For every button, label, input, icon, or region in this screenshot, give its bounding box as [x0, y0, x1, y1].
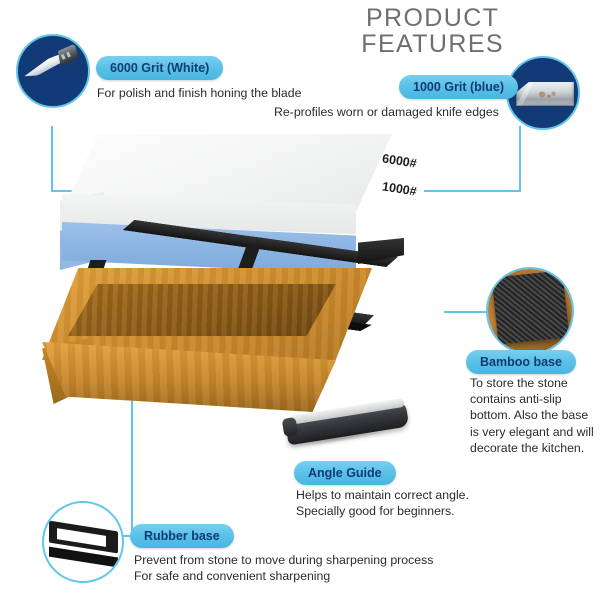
stone-grit-6000-label: 6000#	[381, 151, 418, 170]
knife-blade	[22, 54, 64, 81]
leader-line-1000-vertical	[519, 126, 521, 192]
callout-desc-1000-grit: Re-profiles worn or damaged knife edges	[274, 104, 499, 120]
leader-line-1000-horizontal	[424, 190, 520, 192]
rubber-frame-icon	[49, 526, 118, 563]
callout-desc-bamboo-base: To store the stone contains anti-slip bo…	[470, 375, 598, 456]
page-title-line2: FEATURES	[361, 32, 504, 58]
callout-label-1000-grit[interactable]: 1000 Grit (blue)	[399, 75, 518, 99]
callout-icon-1000-grit[interactable]	[506, 56, 580, 130]
bamboo-recess-well	[68, 284, 336, 336]
callout-label-6000-grit[interactable]: 6000 Grit (White)	[96, 56, 223, 80]
stone-grit-1000-label: 1000#	[381, 179, 418, 198]
worn-knife-edge-icon	[516, 82, 573, 106]
callout-desc-6000-grit: For polish and finish honing the blade	[97, 85, 301, 101]
product-features-infographic: PRODUCT FEATURES 6000# 1000#	[0, 0, 600, 600]
callout-icon-rubber-base[interactable]	[42, 501, 124, 583]
anti-slip-mesh-icon	[491, 271, 568, 345]
callout-icon-6000-grit[interactable]	[16, 34, 90, 108]
knife-icon	[21, 44, 82, 83]
callout-desc-rubber-base: Prevent from stone to move during sharpe…	[134, 552, 433, 584]
callout-icon-bamboo-base[interactable]	[486, 267, 574, 355]
callout-label-bamboo-base[interactable]: Bamboo base	[466, 350, 576, 374]
angle-guide-graphic	[286, 404, 416, 450]
leader-line-6000-vertical	[51, 126, 53, 192]
callout-label-angle-guide[interactable]: Angle Guide	[294, 461, 396, 485]
angle-guide-nub	[282, 417, 299, 437]
callout-label-rubber-base[interactable]: Rubber base	[130, 524, 234, 548]
page-title: PRODUCT FEATURES	[361, 6, 504, 57]
page-title-line1: PRODUCT	[366, 4, 499, 32]
callout-desc-angle-guide: Helps to maintain correct angle. Special…	[296, 487, 469, 519]
